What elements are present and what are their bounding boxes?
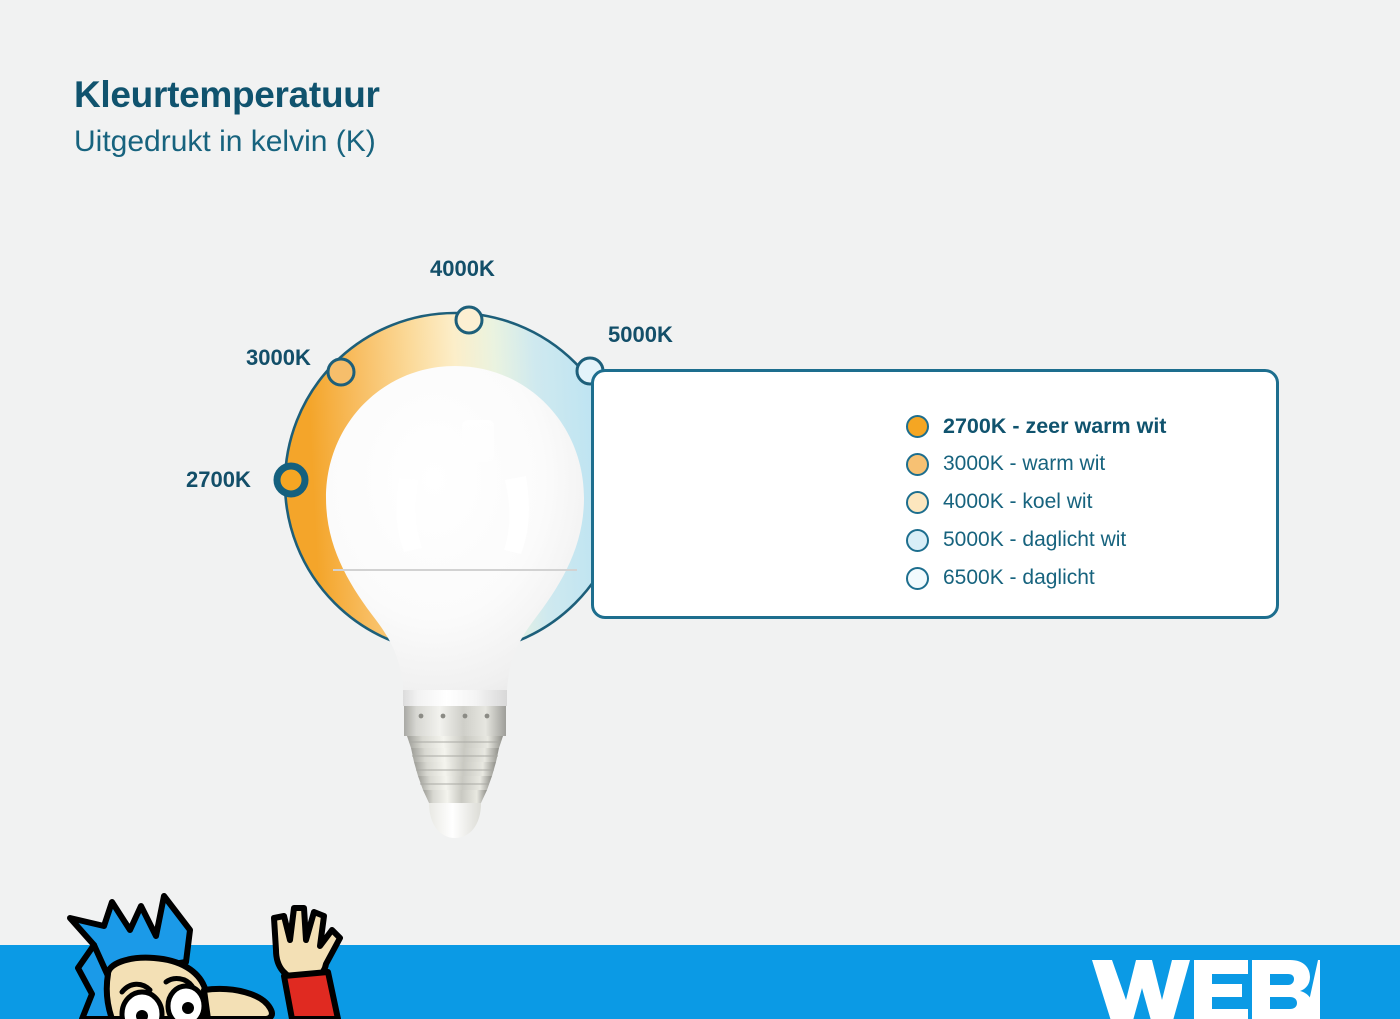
legend-label-4000k: 4000K - koel wit [943, 490, 1092, 514]
legend-item-5000k: 5000K - daglicht wit [906, 521, 1166, 559]
legend-item-2700k: 2700K - zeer warm wit [906, 407, 1166, 445]
bulb-collar-dots [419, 714, 490, 719]
mascot-sleeve [284, 972, 338, 1019]
weba-mascot-illustration [8, 890, 368, 1019]
bulb-highlight-top [462, 420, 494, 462]
kelvin-label-4000: 4000K [430, 256, 495, 282]
kelvin-label-3000: 3000K [246, 345, 311, 371]
legend-label-3000k: 3000K - warm wit [943, 452, 1105, 476]
legend-label-6500k: 6500K - daglicht [943, 566, 1095, 590]
weba-wordmark [1092, 960, 1320, 1019]
mascot-hand [274, 908, 340, 980]
kelvin-node-3000 [328, 359, 354, 385]
legend-panel: 2700K - zeer warm wit 3000K - warm wit 4… [591, 369, 1279, 619]
bulb-highlight-right [504, 476, 529, 554]
bulb-collar [404, 706, 506, 736]
bulb-contact-tip [429, 803, 481, 838]
legend-swatch-6500k [906, 567, 929, 590]
kelvin-node-4000 [456, 307, 482, 333]
kelvin-node-2700-selected [277, 466, 305, 494]
light-bulb-illustration [326, 366, 584, 838]
ring-outline [285, 313, 625, 653]
bulb-glass [326, 366, 584, 690]
legend-swatch-2700k [906, 415, 929, 438]
kelvin-label-2700: 2700K [186, 467, 251, 493]
legend-swatch-4000k [906, 491, 929, 514]
kelvin-label-5000: 5000K [608, 322, 673, 348]
legend-swatch-3000k [906, 453, 929, 476]
bulb-neck [403, 690, 507, 706]
legend-item-3000k: 3000K - warm wit [906, 445, 1166, 483]
legend-swatch-5000k [906, 529, 929, 552]
legend-label-5000k: 5000K - daglicht wit [943, 528, 1126, 552]
mascot-pupil-right [182, 1002, 194, 1014]
page-title: Kleurtemperatuur [74, 76, 380, 115]
bulb-highlight-left [396, 478, 422, 552]
weba-logo [1090, 952, 1320, 1019]
infographic-canvas: Kleurtemperatuur Uitgedrukt in kelvin (K… [0, 0, 1400, 1019]
page-subtitle: Uitgedrukt in kelvin (K) [74, 125, 380, 158]
bulb-screw-base [407, 736, 503, 803]
mascot-nose [204, 989, 272, 1019]
legend-list: 2700K - zeer warm wit 3000K - warm wit 4… [906, 407, 1166, 597]
legend-item-4000k: 4000K - koel wit [906, 483, 1166, 521]
header: Kleurtemperatuur Uitgedrukt in kelvin (K… [74, 76, 380, 158]
legend-label-2700k: 2700K - zeer warm wit [943, 414, 1166, 439]
ring-gradient-band [313, 341, 597, 625]
kelvin-color-ring [285, 313, 625, 653]
legend-item-6500k: 6500K - daglicht [906, 559, 1166, 597]
